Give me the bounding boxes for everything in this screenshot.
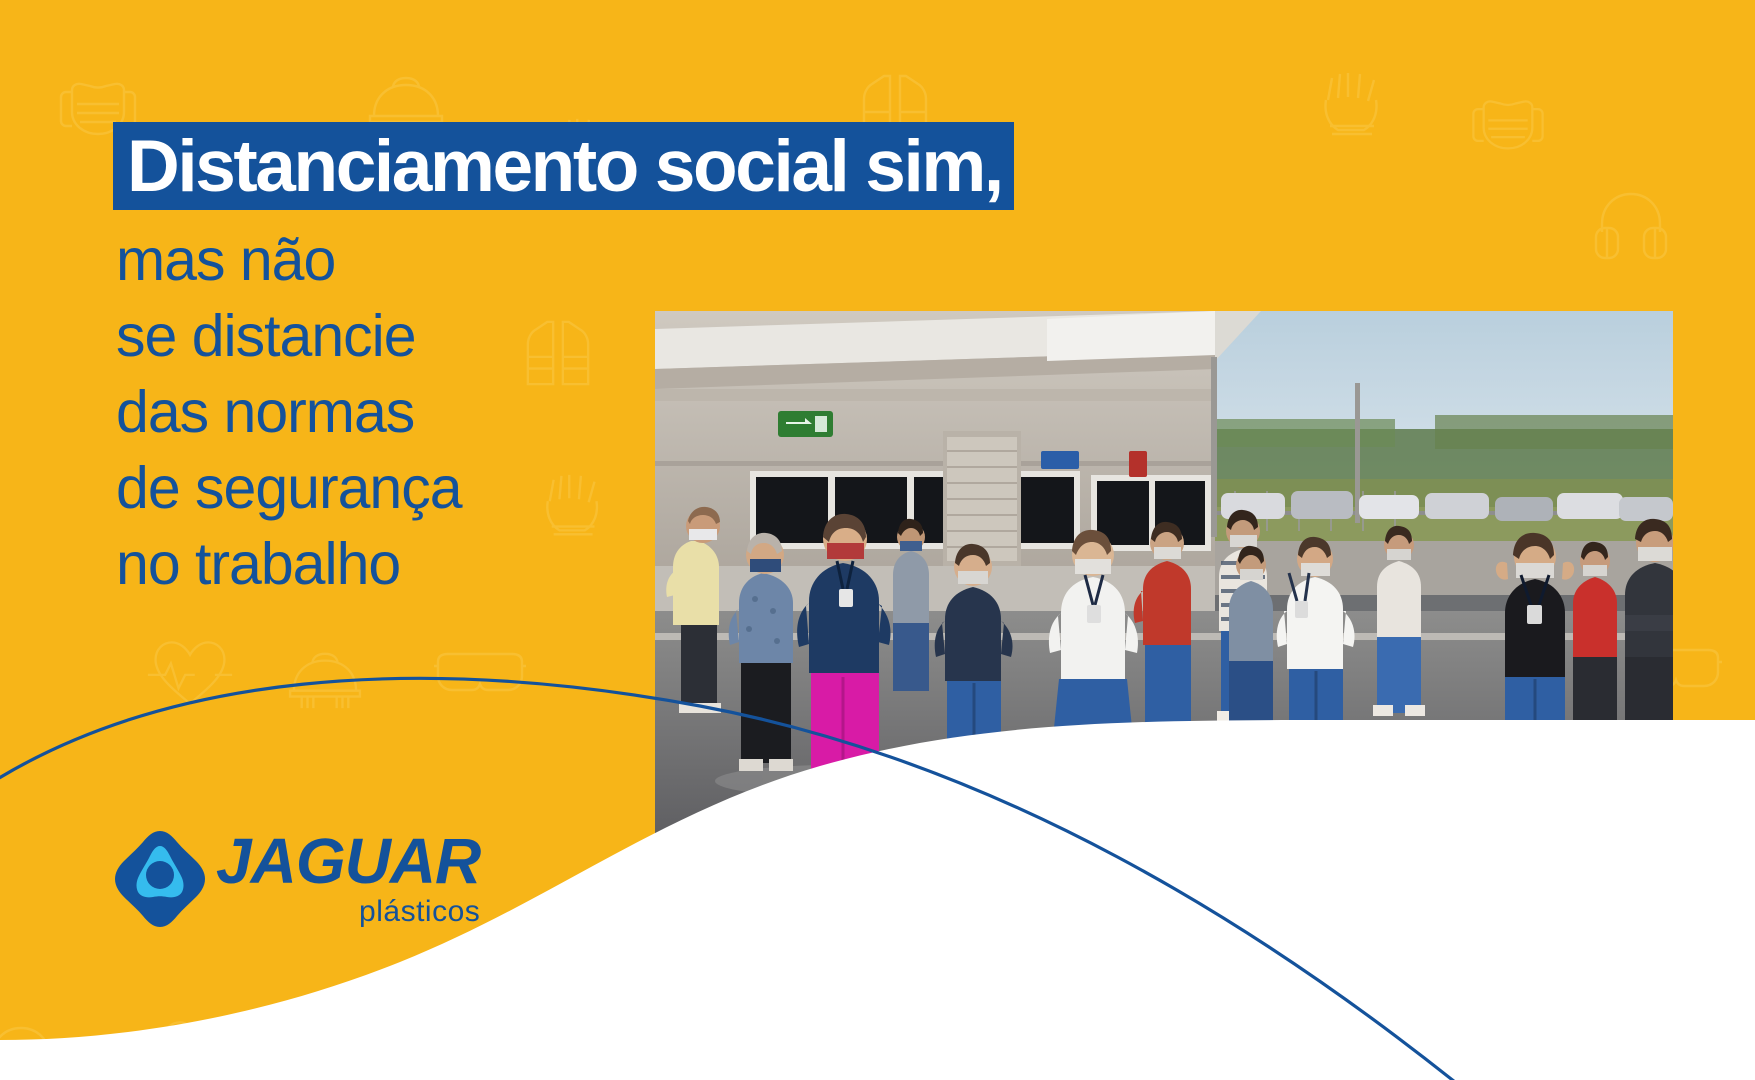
jaguar-logo-mark-icon [112,828,208,928]
poster-canvas: Distanciamento social sim, mas não se di… [0,0,1755,1080]
jaguar-name: JAGUAR [216,828,480,894]
headline-banner: Distanciamento social sim, [113,122,1014,210]
jaguar-tagline: plásticos [216,896,480,928]
jaguar-logo[interactable]: JAGUAR plásticos [112,828,480,928]
jaguar-wordmark: JAGUAR plásticos [216,828,480,928]
headline-text: Distanciamento social sim, [127,130,1002,203]
subheadline-text: mas não se distancie das normas de segur… [116,222,462,602]
